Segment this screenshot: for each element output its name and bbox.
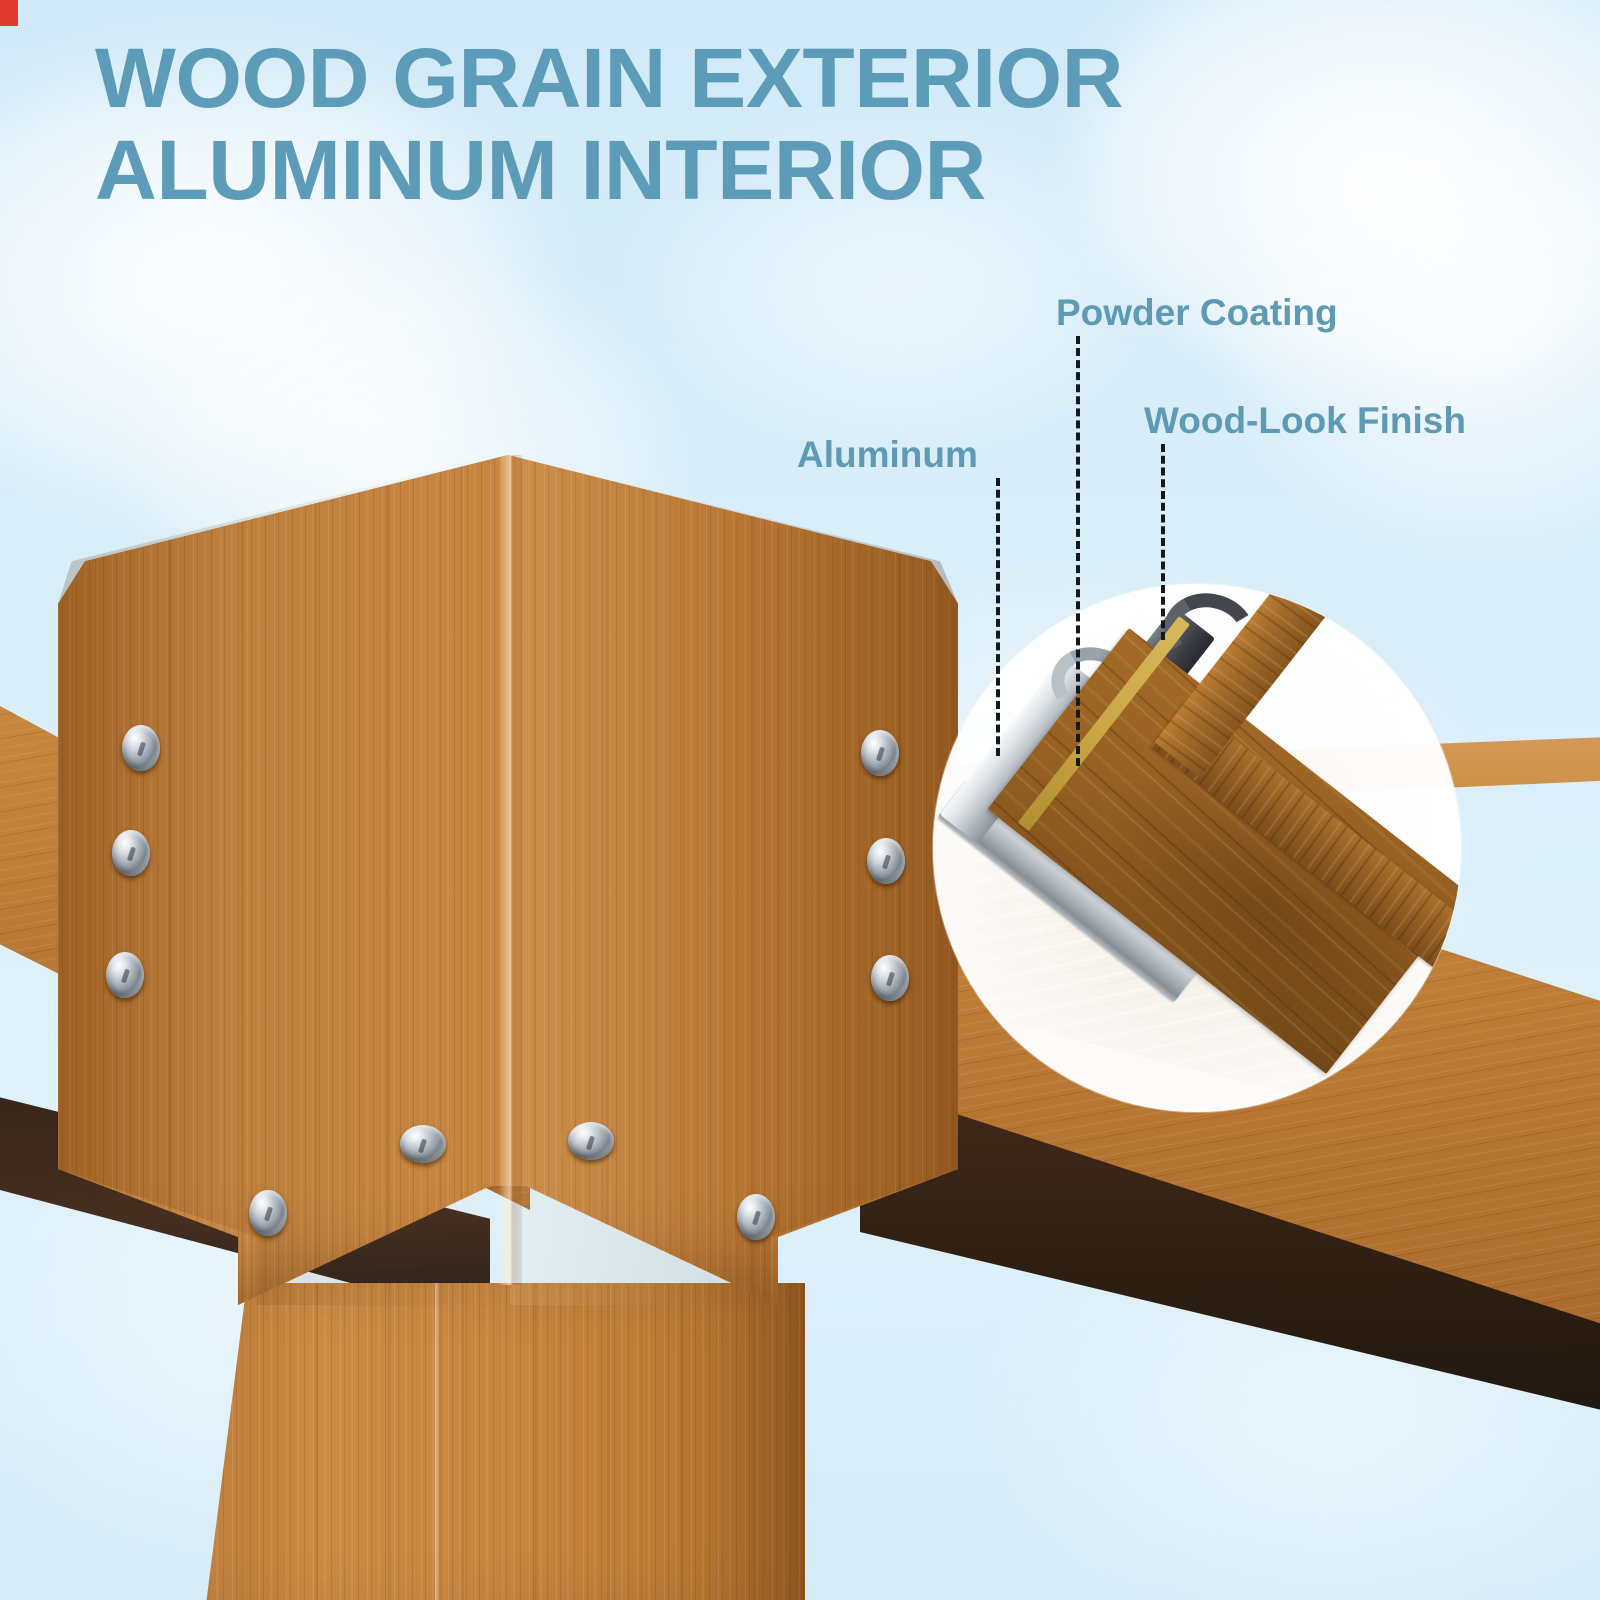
red-edge-marker: [0, 0, 18, 26]
screw-fastener: [861, 730, 899, 776]
screw-fastener: [400, 1125, 446, 1163]
screw-fastener: [249, 1190, 287, 1236]
screw-fastener: [106, 952, 144, 998]
screw-fastener: [112, 830, 150, 876]
leader-line-aluminum: [996, 478, 1000, 756]
headline-line-1: WOOD GRAIN EXTERIOR: [95, 32, 1319, 124]
screw-fastener: [871, 955, 909, 1001]
headline-line-2: ALUMINUM INTERIOR: [95, 124, 1319, 216]
screw-fastener: [737, 1194, 775, 1240]
infographic-canvas: Powder Coating Wood-Look Finish Aluminum…: [0, 0, 1600, 1600]
support-post: [205, 1283, 805, 1600]
callout-label-wood-look-finish: Wood-Look Finish: [1144, 400, 1466, 442]
screw-fastener: [122, 725, 160, 771]
bracket-centre-ridge: [498, 455, 522, 1285]
screw-fastener: [867, 838, 905, 884]
post-corner-edge: [435, 1283, 442, 1600]
leader-line-powder-coating: [1076, 336, 1080, 766]
headline-block: WOOD GRAIN EXTERIOR ALUMINUM INTERIOR: [95, 32, 1295, 216]
callout-label-aluminum: Aluminum: [797, 434, 978, 476]
screw-fastener: [568, 1122, 614, 1160]
leader-line-wood-look-finish: [1161, 444, 1165, 640]
bracket-left-face-shading: [58, 455, 510, 1305]
cross-section-magnifier: [933, 584, 1461, 1112]
callout-label-powder-coating: Powder Coating: [1056, 292, 1338, 334]
